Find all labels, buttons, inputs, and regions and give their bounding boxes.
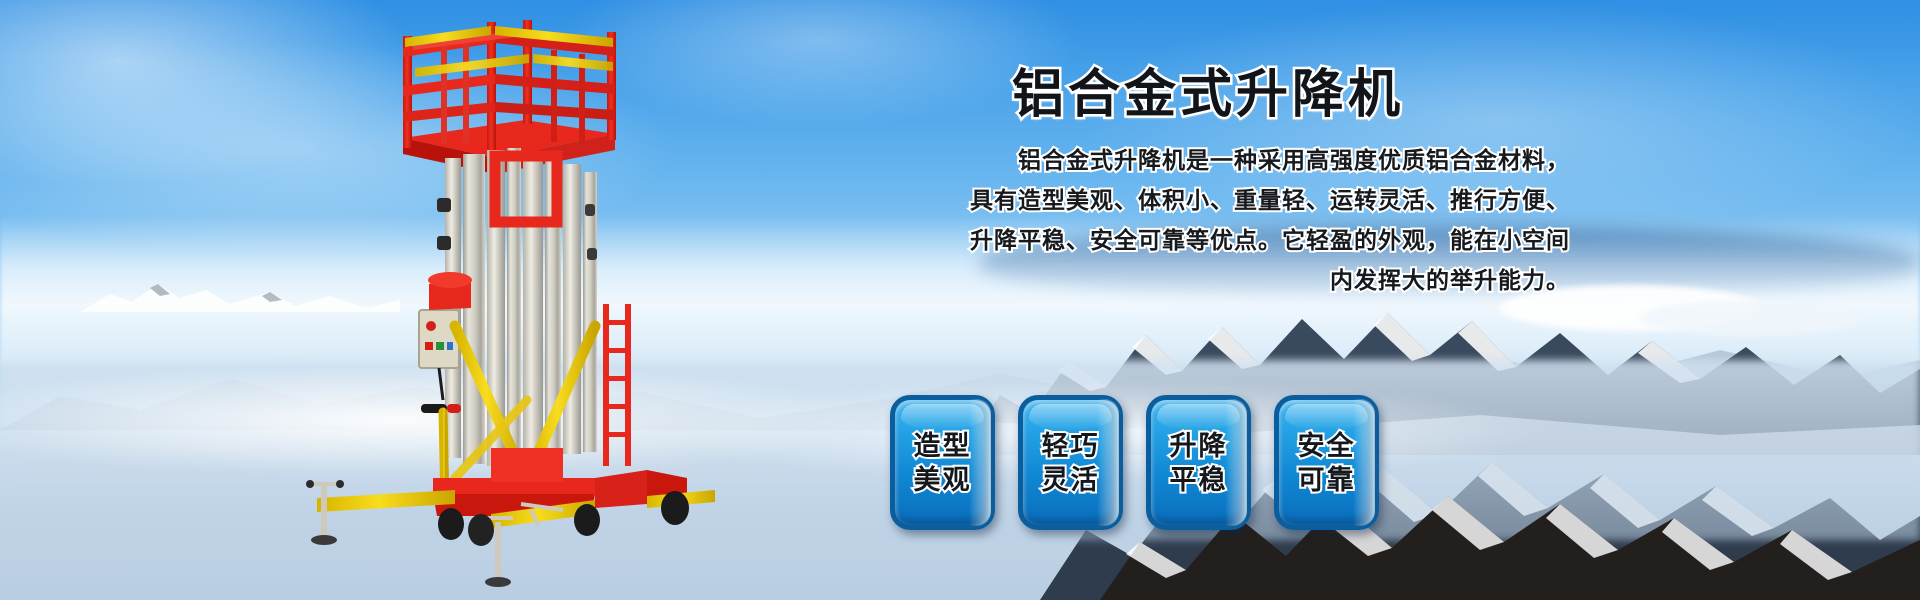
feature-highlight-list: 造型 美观 轻巧 灵活 升降 平稳 安全 可靠 [890,395,1379,530]
aluminum-alloy-lift-platform [295,8,715,598]
description-line: 具有造型美观、体积小、重量轻、运转灵活、推行方便、 [930,180,1570,220]
feature-label-line2: 平稳 [1170,463,1228,497]
feature-box-safe-reliable[interactable]: 安全 可靠 [1274,395,1379,530]
banner-title: 铝合金式升降机 [1012,52,1404,127]
product-banner: 铝合金式升降机 铝合金式升降机是一种采用高强度优质铝合金材料， 具有造型美观、体… [0,0,1920,600]
feature-label-line2: 可靠 [1298,463,1356,497]
description-line: 内发挥大的举升能力。 [930,260,1570,300]
feature-label-line1: 安全 [1298,429,1356,463]
feature-label-line2: 灵活 [1042,463,1100,497]
description-line: 升降平稳、安全可靠等优点。它轻盈的外观，能在小空间 [930,220,1570,260]
description-line: 铝合金式升降机是一种采用高强度优质铝合金材料， [930,140,1570,180]
feature-label-line2: 美观 [914,463,972,497]
feature-box-lightweight[interactable]: 轻巧 灵活 [1018,395,1123,530]
banner-description: 铝合金式升降机是一种采用高强度优质铝合金材料， 具有造型美观、体积小、重量轻、运… [930,140,1570,300]
feature-label-line1: 升降 [1170,429,1228,463]
feature-box-smooth-lifting[interactable]: 升降 平稳 [1146,395,1251,530]
feature-label-line1: 轻巧 [1042,429,1100,463]
red-side-ladder [603,304,631,466]
feature-box-appearance[interactable]: 造型 美观 [890,395,995,530]
feature-label-line1: 造型 [914,429,972,463]
